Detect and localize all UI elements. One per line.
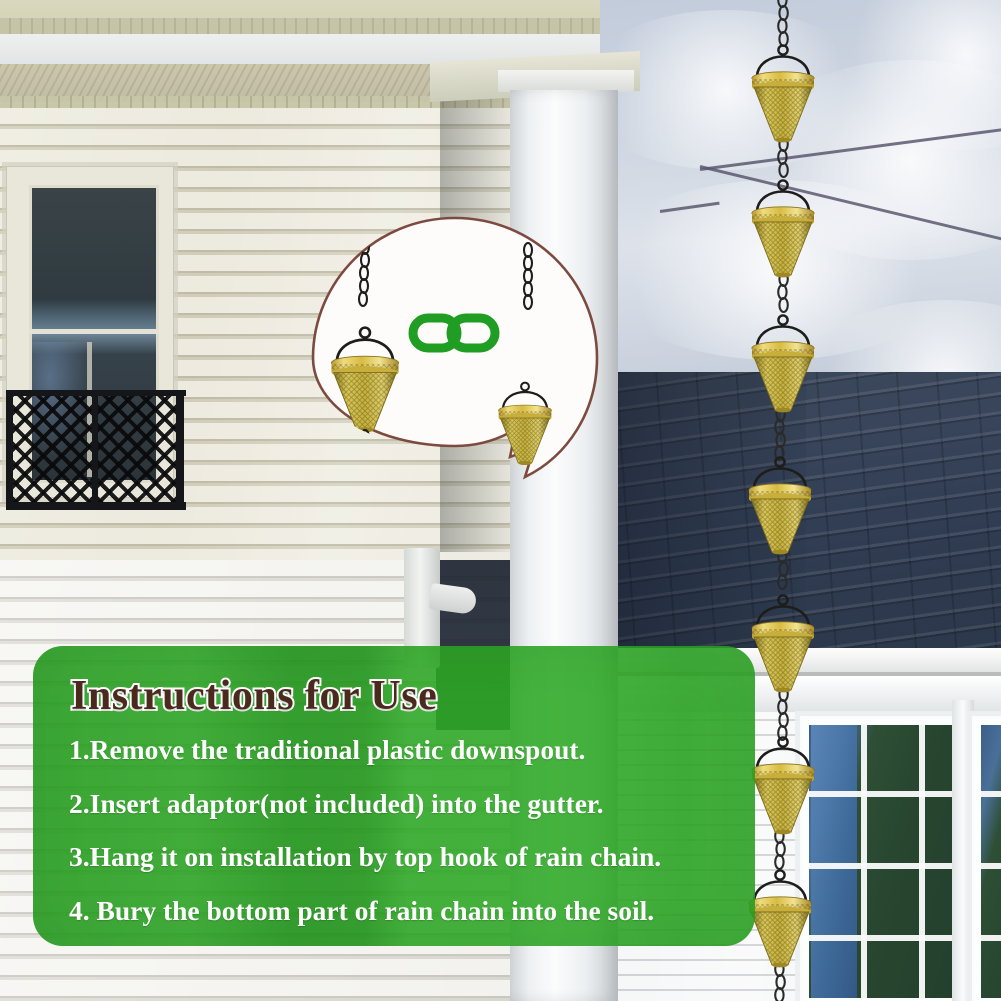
window-muntins	[809, 725, 957, 998]
window-sash	[29, 329, 159, 334]
roof-shadow	[596, 372, 806, 672]
product-instruction-image: Instructions for Use 1.Remove the tradit…	[0, 0, 1001, 1001]
column-capital	[498, 70, 634, 92]
instructions-banner: Instructions for Use 1.Remove the tradit…	[33, 646, 755, 946]
bay-window	[800, 716, 966, 1001]
instruction-step: 4. Bury the bottom part of rain chain in…	[69, 897, 721, 925]
window-muntins	[981, 725, 1001, 998]
page-title: Instructions for Use	[71, 672, 721, 720]
instruction-step: 1.Remove the traditional plastic downspo…	[69, 736, 721, 764]
instruction-steps: 1.Remove the traditional plastic downspo…	[67, 736, 721, 924]
dentil-molding	[0, 18, 600, 34]
bay-window	[972, 716, 1001, 1001]
chain-left-bottom	[361, 430, 369, 470]
instruction-step: 3.Hang it on installation by top hook of…	[69, 843, 721, 871]
instruction-step: 2.Insert adaptor(not included) into the …	[69, 790, 721, 818]
window-post	[952, 700, 974, 1001]
wrought-iron-railing	[6, 390, 186, 510]
detail-callout-bubble	[310, 215, 600, 500]
